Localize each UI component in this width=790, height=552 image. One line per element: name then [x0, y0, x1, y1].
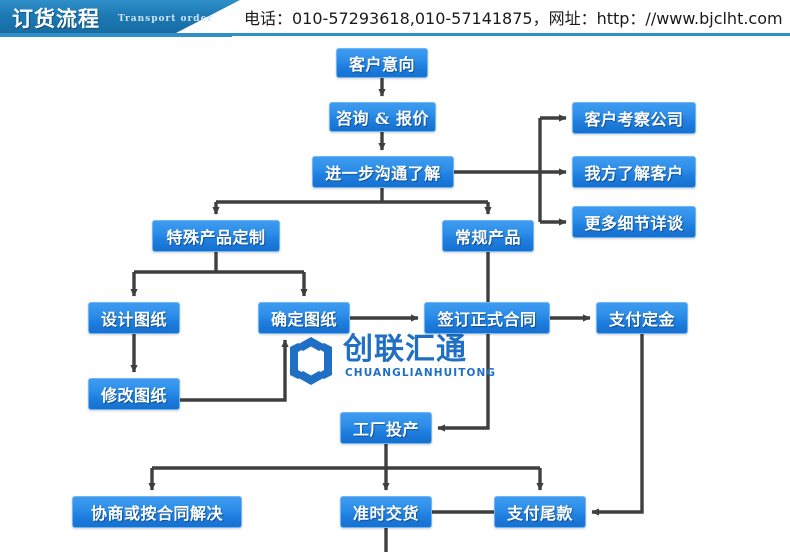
page-subtitle: Transport order: [118, 14, 213, 24]
watermark-name: 创联汇通: [343, 333, 467, 367]
flow-node-n11[interactable]: 签订正式合同: [424, 302, 550, 334]
flow-node-n2[interactable]: 咨询 & 报价: [329, 102, 436, 132]
flow-node-n10[interactable]: 确定图纸: [258, 302, 350, 334]
flow-node-n13[interactable]: 修改图纸: [88, 378, 180, 410]
watermark-pinyin: CHUANGLIANHUITONG: [345, 367, 496, 379]
page-header: 订货流程 Transport order 电话：010-57293618,010…: [0, 0, 790, 40]
edge-n13-n10: [180, 340, 285, 400]
flow-node-n14[interactable]: 工厂投产: [340, 412, 432, 444]
flow-node-n1[interactable]: 客户意向: [336, 48, 428, 78]
flow-node-n8[interactable]: 常规产品: [442, 220, 534, 252]
flow-node-n6[interactable]: 更多细节详谈: [572, 206, 696, 238]
contact-info: 电话：010-57293618,010-57141875，网址：http：//w…: [244, 5, 783, 29]
flow-node-n16[interactable]: 准时交货: [340, 496, 432, 528]
flow-node-n4[interactable]: 客户考察公司: [572, 102, 696, 134]
flowchart-canvas: 创联汇通 CHUANGLIANHUITONG 客户意向咨询 & 报价进一步沟通了…: [0, 40, 790, 552]
page-title: 订货流程: [12, 3, 100, 33]
flow-node-n17[interactable]: 支付尾款: [494, 496, 586, 528]
watermark-logo: 创联汇通 CHUANGLIANHUITONG: [285, 333, 485, 389]
header-divider-accent: [0, 33, 232, 37]
flow-node-n12[interactable]: 支付定金: [596, 302, 688, 334]
flow-node-n3[interactable]: 进一步沟通了解: [312, 156, 454, 188]
pinwheel-logo-icon: [285, 335, 337, 387]
flow-node-n5[interactable]: 我方了解客户: [572, 156, 696, 188]
edge-n12-n17: [592, 334, 642, 512]
flow-node-n7[interactable]: 特殊产品定制: [152, 220, 280, 252]
flow-node-n9[interactable]: 设计图纸: [88, 302, 180, 334]
flow-node-n15[interactable]: 协商或按合同解决: [72, 496, 242, 528]
